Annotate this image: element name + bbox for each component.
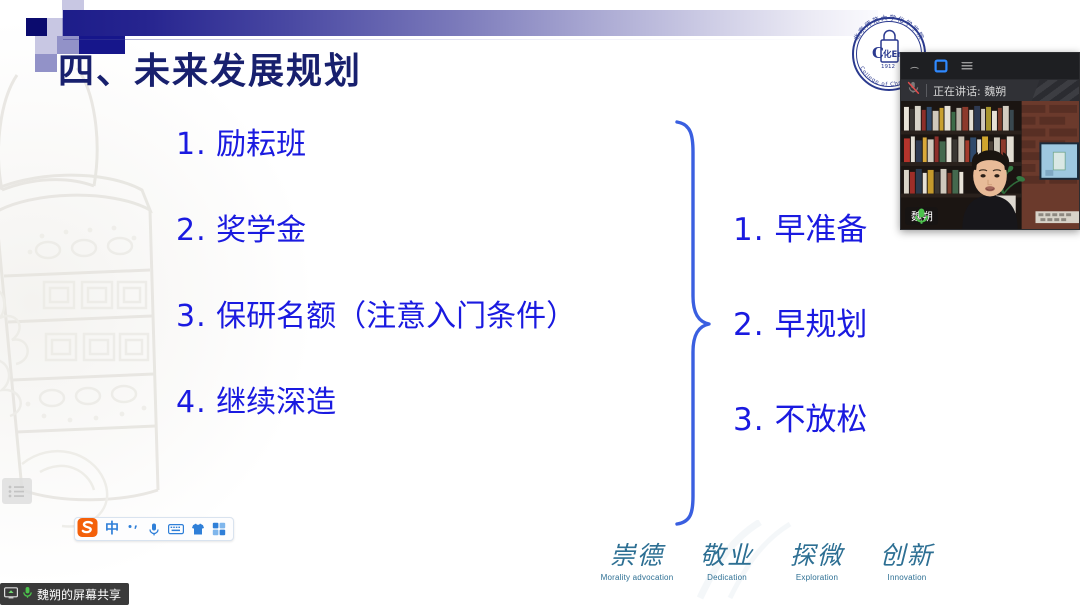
video-call-window[interactable]: 正在讲话: 魏朔 xyxy=(900,52,1080,230)
list-item-number: 3. xyxy=(176,299,207,334)
slogan-en: Exploration xyxy=(772,573,862,582)
header-underline xyxy=(63,39,878,40)
restore-icon[interactable] xyxy=(933,59,948,74)
left-list: 1. 励耘班 2. 奖学金 3. 保研名额（注意入门条件） 4. 继续深造 xyxy=(176,130,676,474)
list-item-label: 早准备 xyxy=(774,212,867,248)
sogou-s-logo[interactable] xyxy=(77,517,98,538)
list-item: 4. 继续深造 xyxy=(176,388,676,418)
screen-share-status-bar[interactable]: 魏朔的屏幕共享 xyxy=(0,583,129,605)
list-item-number: 2. xyxy=(733,307,765,343)
slogan-cn: 敬业 xyxy=(682,543,772,569)
slogan-item: 敬业 Dedication xyxy=(682,543,772,582)
screen-share-label: 魏朔的屏幕共享 xyxy=(37,586,121,603)
list-item-label: 早规划 xyxy=(774,307,867,343)
svg-text:1912: 1912 xyxy=(881,64,895,70)
list-item-label: 奖学金 xyxy=(216,213,306,248)
list-item-number: 1. xyxy=(733,212,765,248)
hamburger-menu-icon[interactable] xyxy=(959,59,974,74)
list-item-number: 4. xyxy=(176,385,207,420)
screen-share-icon xyxy=(4,587,18,602)
list-item-number: 3. xyxy=(733,402,765,438)
slogan-en: Dedication xyxy=(682,573,772,582)
header-block-lavender-low xyxy=(35,36,57,54)
video-window-titlebar[interactable] xyxy=(901,53,1079,79)
screen-share-slide: 北京师范大学化学学院 College of Chemistry C 化En 19… xyxy=(0,0,1080,605)
list-item: 2. 早规划 xyxy=(733,310,1013,341)
toolbox-apps-icon[interactable] xyxy=(212,520,226,538)
list-item: 1. 励耘班 xyxy=(176,130,676,160)
slogan-cn: 创新 xyxy=(862,543,952,569)
speaking-label: 正在讲话: 魏朔 xyxy=(933,83,1006,99)
list-panel-toggle[interactable] xyxy=(2,478,32,504)
participant-name-tag: 魏朔 xyxy=(905,207,938,225)
status-divider xyxy=(926,84,927,97)
list-item-label: 继续深造 xyxy=(216,385,336,420)
sogou-ime-toolbar[interactable]: 中 xyxy=(74,517,234,541)
ime-mode-chinese[interactable]: 中 xyxy=(105,520,119,538)
right-list: 1. 早准备 2. 早规划 3. 不放松 xyxy=(733,215,1013,500)
slogan-en: Morality advocation xyxy=(592,573,682,582)
list-item-number: 1. xyxy=(176,127,207,162)
video-feed[interactable]: 魏朔 xyxy=(901,101,1079,229)
slide-title: 四、未来发展规划 xyxy=(58,42,362,94)
list-item: 2. 奖学金 xyxy=(176,216,676,246)
list-item: 3. 保研名额（注意入门条件） xyxy=(176,302,676,332)
microphone-icon[interactable] xyxy=(147,520,161,538)
list-item-label: 励耘班 xyxy=(216,127,306,162)
slogan-cn: 崇德 xyxy=(592,543,682,569)
list-item-label: 保研名额（注意入门条件） xyxy=(216,299,576,334)
slogan-item: 崇德 Morality advocation xyxy=(592,543,682,582)
punctuation-toggle-icon[interactable] xyxy=(126,520,140,538)
list-item-label: 不放松 xyxy=(774,402,867,438)
slogan-item: 探微 Exploration xyxy=(772,543,862,582)
skin-shirt-icon[interactable] xyxy=(191,520,205,538)
header-gradient-bar xyxy=(63,10,878,36)
window-resize-grip[interactable] xyxy=(1028,79,1079,101)
slogan-item: 创新 Innovation xyxy=(862,543,952,582)
minimize-icon[interactable] xyxy=(907,59,922,74)
slogan-cn: 探微 xyxy=(772,543,862,569)
soft-keyboard-icon[interactable] xyxy=(168,520,184,538)
speaking-status-bar: 正在讲话: 魏朔 xyxy=(901,79,1079,101)
microphone-muted-icon[interactable] xyxy=(907,81,920,100)
list-icon xyxy=(8,485,26,498)
slogan-row: 崇德 Morality advocation 敬业 Dedication 探微 … xyxy=(592,543,952,598)
microphone-icon xyxy=(22,586,33,602)
list-item-number: 2. xyxy=(176,213,207,248)
list-item: 3. 不放松 xyxy=(733,405,1013,436)
slogan-en: Innovation xyxy=(862,573,952,582)
header-block-periwinkle-bottom xyxy=(35,54,57,72)
